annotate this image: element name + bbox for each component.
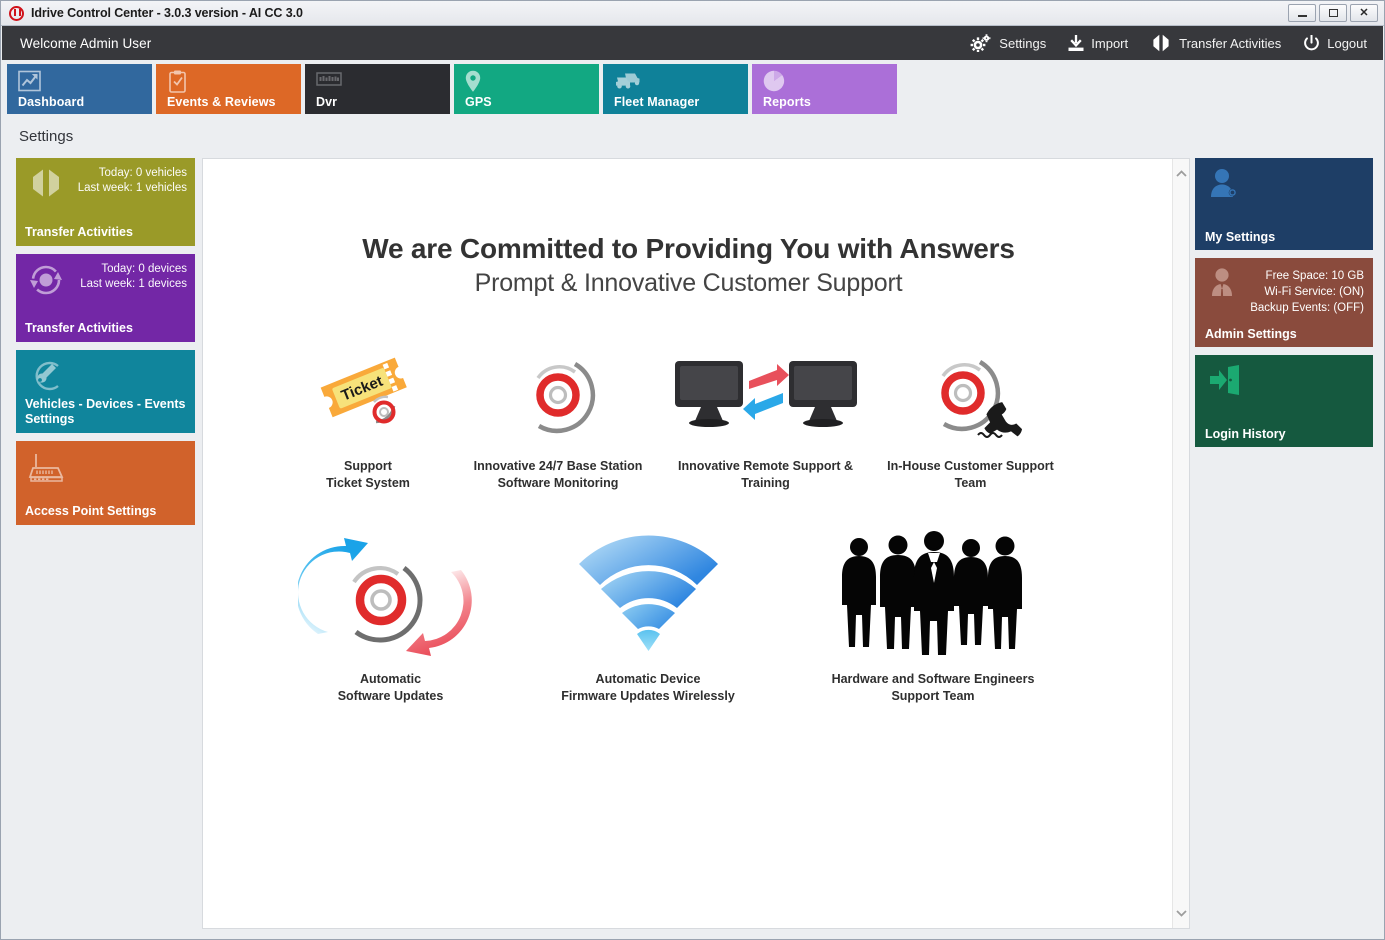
pie-chart-icon xyxy=(763,70,785,97)
tile-stat-line: Last week: 1 devices xyxy=(80,277,187,292)
chevron-down-icon[interactable] xyxy=(1173,905,1190,922)
features-row-2: Automatic Software Updates xyxy=(283,529,1068,705)
nav-tab-dvr[interactable]: Dvr xyxy=(305,64,450,114)
header-import-button[interactable]: Import xyxy=(1068,35,1128,52)
title-bar: Idrive Control Center - 3.0.3 version - … xyxy=(1,1,1384,26)
nav-tab-events-reviews-label: Events & Reviews xyxy=(167,95,276,109)
tile-my-settings[interactable]: My Settings xyxy=(1195,158,1373,250)
cars-icon xyxy=(614,70,642,95)
sync-refresh-target-icon xyxy=(283,529,498,659)
tile-vehicles-devices-events-settings[interactable]: Vehicles - Devices - Events Settings xyxy=(16,350,195,433)
header-actions: Settings Import Transf xyxy=(970,34,1367,52)
header-transfer-activities-button[interactable]: Transfer Activities xyxy=(1150,34,1281,52)
tile-transfer-activities-devices[interactable]: Today: 0 devices Last week: 1 devices Tr… xyxy=(16,254,195,342)
sync-circle-icon xyxy=(28,264,64,301)
header-settings-button[interactable]: Settings xyxy=(970,34,1046,52)
feature-hardware-software-engineers: Hardware and Software Engineers Support … xyxy=(798,529,1068,705)
nav-tab-dvr-label: Dvr xyxy=(316,95,337,109)
content-scrollbar[interactable] xyxy=(1172,159,1189,928)
target-phone-icon xyxy=(873,344,1068,444)
content-heading: We are Committed to Providing You with A… xyxy=(203,233,1174,265)
nav-tab-fleet-manager[interactable]: Fleet Manager xyxy=(603,64,748,114)
admin-user-icon xyxy=(1208,267,1240,302)
minimize-button[interactable] xyxy=(1288,4,1316,22)
chevron-up-icon[interactable] xyxy=(1173,165,1190,182)
feature-label: Support Ticket System xyxy=(278,458,458,492)
maximize-button[interactable] xyxy=(1319,4,1347,22)
left-sidebar: Today: 0 vehicles Last week: 1 vehicles … xyxy=(16,158,195,533)
content-inner: We are Committed to Providing You with A… xyxy=(203,159,1174,928)
chart-line-icon xyxy=(18,70,42,97)
tile-stat-line: Today: 0 devices xyxy=(80,262,187,277)
feature-label: Automatic Device Firmware Updates Wirele… xyxy=(498,671,798,705)
tile-label: Vehicles - Devices - Events Settings xyxy=(25,397,195,427)
tile-stats: Free Space: 10 GB Wi-Fi Service: (ON) Ba… xyxy=(1250,268,1364,316)
feature-in-house-support-team: In-House Customer Support Team xyxy=(873,344,1068,492)
tile-stats: Today: 0 devices Last week: 1 devices xyxy=(80,262,187,292)
dvr-box-icon xyxy=(316,70,342,93)
tile-transfer-activities-vehicles[interactable]: Today: 0 vehicles Last week: 1 vehicles … xyxy=(16,158,195,246)
nav-tab-fleet-manager-label: Fleet Manager xyxy=(614,95,699,109)
nav-tab-dashboard-label: Dashboard xyxy=(18,95,84,109)
feature-remote-support-training: Innovative Remote Support & Training xyxy=(658,344,873,492)
wifi-signal-icon xyxy=(498,529,798,659)
content-panel: We are Committed to Providing You with A… xyxy=(202,158,1190,929)
feature-automatic-firmware-updates: Automatic Device Firmware Updates Wirele… xyxy=(498,529,798,705)
feature-label: In-House Customer Support Team xyxy=(873,458,1068,492)
window-title: Idrive Control Center - 3.0.3 version - … xyxy=(31,6,303,20)
remote-monitors-icon xyxy=(658,344,873,444)
transfer-arrows-icon xyxy=(28,168,64,203)
nav-tab-dashboard[interactable]: Dashboard xyxy=(7,64,152,114)
tile-stat-line: Wi-Fi Service: (ON) xyxy=(1250,284,1364,300)
feature-label: Automatic Software Updates xyxy=(283,671,498,705)
tile-label: Access Point Settings xyxy=(25,504,156,519)
header-import-label: Import xyxy=(1091,36,1128,51)
app-header: Welcome Admin User xyxy=(2,26,1383,60)
feature-automatic-software-updates: Automatic Software Updates xyxy=(283,529,498,705)
header-settings-label: Settings xyxy=(999,36,1046,51)
nav-tab-gps-label: GPS xyxy=(465,95,492,109)
tile-login-history[interactable]: Login History xyxy=(1195,355,1373,447)
tile-access-point-settings[interactable]: Access Point Settings xyxy=(16,441,195,525)
tile-stat-line: Backup Events: (OFF) xyxy=(1250,300,1364,316)
idrive-target-logo-icon xyxy=(9,6,24,21)
right-sidebar: My Settings Free Space: 10 GB Wi-Fi Serv… xyxy=(1195,158,1373,455)
header-transfer-activities-label: Transfer Activities xyxy=(1179,36,1281,51)
router-icon xyxy=(28,451,68,488)
application-window: Idrive Control Center - 3.0.3 version - … xyxy=(0,0,1385,940)
feature-label: Hardware and Software Engineers Support … xyxy=(798,671,1068,705)
close-button[interactable]: ✕ xyxy=(1350,4,1378,22)
tile-label: Login History xyxy=(1205,427,1286,441)
tile-stat-line: Free Space: 10 GB xyxy=(1250,268,1364,284)
tile-stats: Today: 0 vehicles Last week: 1 vehicles xyxy=(78,166,187,196)
tile-stat-line: Today: 0 vehicles xyxy=(78,166,187,181)
login-door-icon xyxy=(1208,364,1242,401)
nav-tab-gps[interactable]: GPS xyxy=(454,64,599,114)
features-row-1: Ticket Support Ticket System xyxy=(278,344,1068,492)
user-profile-icon xyxy=(1208,167,1242,204)
tile-label: My Settings xyxy=(1205,230,1275,244)
feature-support-ticket-system: Ticket Support Ticket System xyxy=(278,344,458,492)
content-subheading: Prompt & Innovative Customer Support xyxy=(203,269,1174,298)
transfer-arrows-icon xyxy=(1150,34,1172,52)
tile-label: Transfer Activities xyxy=(25,321,133,336)
nav-tab-reports[interactable]: Reports xyxy=(752,64,897,114)
tile-stat-line: Last week: 1 vehicles xyxy=(78,181,187,196)
window-controls: ✕ xyxy=(1288,4,1378,22)
gears-icon xyxy=(970,34,992,52)
download-icon xyxy=(1068,35,1084,52)
header-logout-label: Logout xyxy=(1327,36,1367,51)
wrench-icon xyxy=(28,360,64,397)
team-silhouette-icon xyxy=(798,529,1068,659)
nav-tab-reports-label: Reports xyxy=(763,95,811,109)
feature-label: Innovative Remote Support & Training xyxy=(658,458,873,492)
support-ticket-icon: Ticket xyxy=(278,344,458,444)
welcome-message: Welcome Admin User xyxy=(20,36,151,51)
breadcrumb: Settings xyxy=(19,128,73,145)
main-navigation-tabs: Dashboard Events & Reviews xyxy=(7,64,897,114)
map-pin-icon xyxy=(465,70,481,98)
tile-admin-settings[interactable]: Free Space: 10 GB Wi-Fi Service: (ON) Ba… xyxy=(1195,258,1373,347)
tile-label: Transfer Activities xyxy=(25,225,133,240)
target-monitoring-icon xyxy=(458,344,658,444)
feature-base-station-monitoring: Innovative 24/7 Base Station Software Mo… xyxy=(458,344,658,492)
power-icon xyxy=(1303,35,1320,52)
header-logout-button[interactable]: Logout xyxy=(1303,35,1367,52)
feature-label: Innovative 24/7 Base Station Software Mo… xyxy=(458,458,658,492)
nav-tab-events-reviews[interactable]: Events & Reviews xyxy=(156,64,301,114)
tile-label: Admin Settings xyxy=(1205,327,1297,341)
